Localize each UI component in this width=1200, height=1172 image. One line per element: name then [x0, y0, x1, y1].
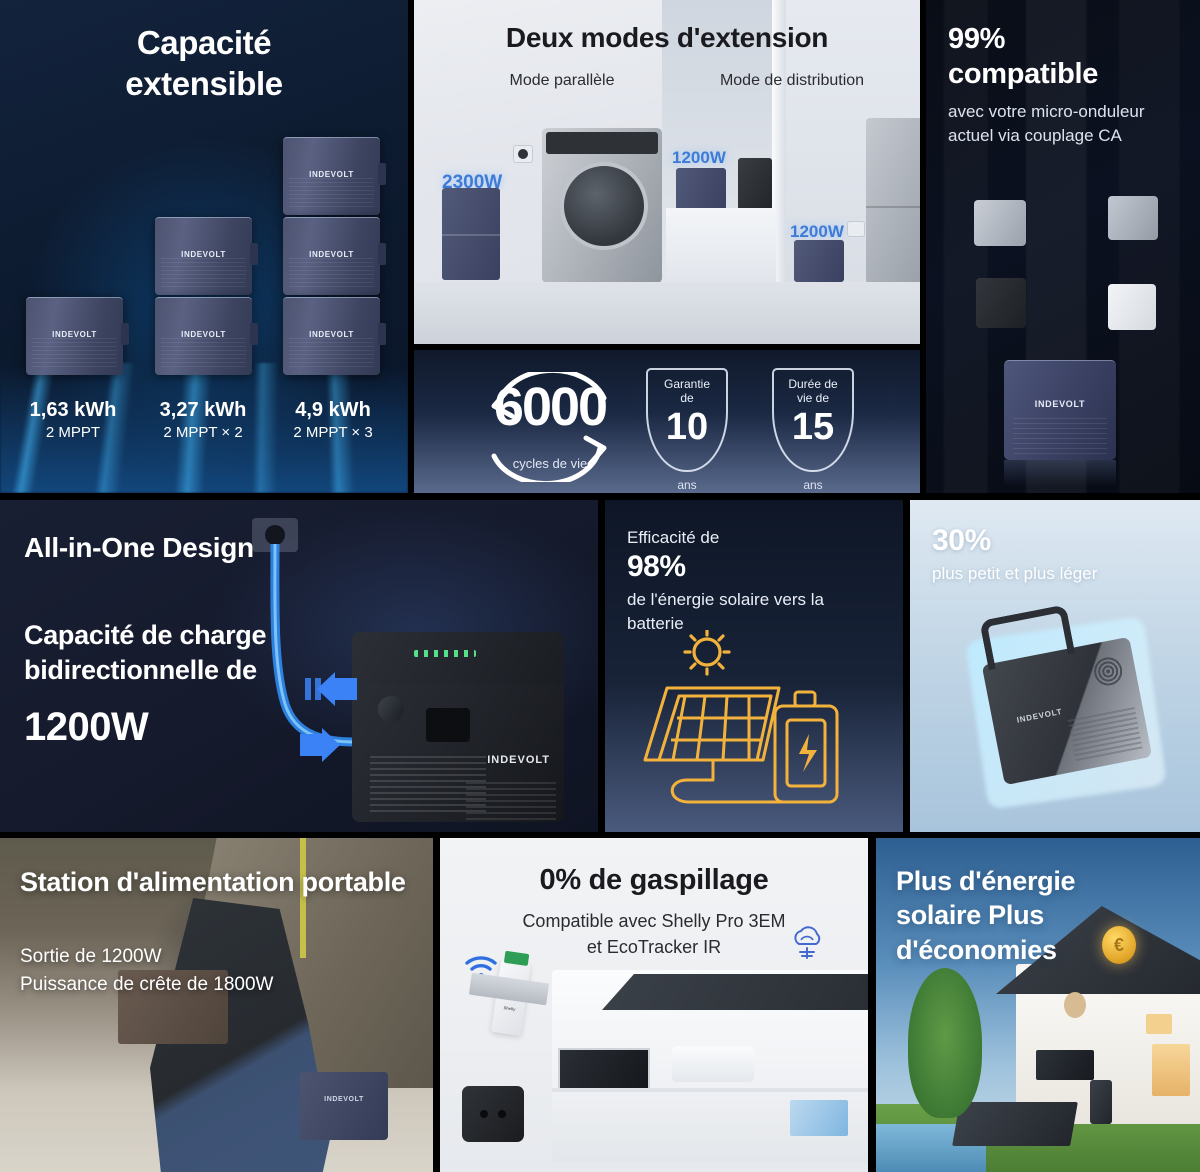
battery-unit: INDEVOLT: [155, 297, 252, 375]
black-wall-socket: [462, 1086, 524, 1142]
capacity-value: 4,9 kWh: [268, 399, 398, 422]
socket-plug: [518, 149, 528, 159]
battery-stack-1: INDEVOLT: [26, 297, 123, 375]
capacity-mppt: 2 MPPT × 3: [268, 424, 398, 441]
capacity-value: 1,63 kWh: [8, 399, 138, 422]
cloud-wifi-icon: [790, 924, 824, 960]
efficiency-line1: Efficacité de: [627, 528, 719, 548]
solar-battery-illustration: [627, 630, 887, 820]
smaller-caption: plus petit et plus léger: [932, 564, 1097, 584]
warranty-label: Garantie de: [664, 378, 710, 406]
panel-30-percent-smaller: 30% plus petit et plus léger INDEVOLT: [910, 500, 1200, 832]
house-floor-divider: [552, 1088, 868, 1092]
capacity-title: Capacité extensible: [0, 22, 408, 105]
balcony-solar-panels: [1036, 1050, 1094, 1080]
ground-solar-panels: [952, 1102, 1078, 1146]
station-fan-grille: [1091, 655, 1126, 688]
socket-hole-right: [498, 1110, 506, 1118]
arrow-right-icon: [300, 728, 352, 762]
unit-brand-label: INDEVOLT: [26, 330, 123, 339]
panel-deux-modes-extension: Deux modes d'extension Mode parallèle Mo…: [414, 0, 920, 344]
unit-brand-label: INDEVOLT: [155, 330, 252, 339]
portable-station-image: INDEVOLT: [300, 1072, 388, 1140]
window-glow-left: [1152, 1044, 1190, 1096]
unit-brand-label: INDEVOLT: [283, 170, 380, 179]
waste-sub-line2: et EcoTracker IR: [587, 937, 721, 957]
solar-panel-array: [558, 1048, 650, 1090]
carry-handle: [979, 604, 1075, 670]
capacity-label-2: 3,27 kWh 2 MPPT × 2: [138, 399, 268, 441]
washing-machine-image: [542, 128, 662, 283]
panel-station-portable: INDEVOLT Station d'alimentation portable…: [0, 838, 433, 1172]
warranty-unit: ans: [646, 478, 728, 492]
battery-unit: INDEVOLT: [155, 217, 252, 295]
waste-title: 0% de gaspillage: [440, 864, 868, 897]
lifetime-years: 15: [792, 408, 834, 446]
modes-title: Deux modes d'extension: [414, 22, 920, 54]
unit-brand-label: INDEVOLT: [283, 250, 380, 259]
home-battery: [1090, 1080, 1112, 1124]
device-brand-label: Shelly: [494, 1004, 524, 1013]
station-brand-label: INDEVOLT: [1016, 707, 1063, 725]
device-terminal-block: [504, 951, 529, 966]
modes-subtitle-distribution: Mode de distribution: [692, 72, 892, 90]
lifetime-shield-icon: Durée de vie de 15: [772, 368, 854, 472]
station-vents: [1068, 707, 1143, 761]
battery-distribution-1: [676, 168, 726, 210]
battery-pair-parallel: [442, 188, 500, 280]
compatible-title: 99% compatible: [948, 22, 1182, 93]
battery-unit: INDEVOLT: [283, 297, 380, 375]
refrigerator-image: [866, 118, 920, 284]
capacity-mppt: 2 MPPT: [8, 424, 138, 441]
wattage-distribution-1: 1200W: [672, 148, 726, 168]
capacity-title-line1: Capacité: [137, 24, 271, 61]
hero-reflection: [1004, 460, 1116, 486]
portable-peak: Puissance de crête de 1800W: [20, 974, 274, 996]
roof-window: [1064, 992, 1086, 1018]
panel-0-gaspillage: 0% de gaspillage Compatible avec Shelly …: [440, 838, 868, 1172]
hero-fins: [1013, 418, 1107, 454]
smaller-percent: 30%: [932, 524, 991, 558]
capacity-value: 3,27 kWh: [138, 399, 268, 422]
allinone-power: 1200W: [24, 705, 148, 750]
capacity-label-3: 4,9 kWh 2 MPPT × 3: [268, 399, 398, 441]
panel-capacite-extensible: Capacité extensible INDEVOLT INDEVOLT IN…: [0, 0, 408, 493]
station-top-lid: [352, 632, 564, 684]
panel-efficacite-98: Efficacité de 98% de l'énergie solaire v…: [605, 500, 903, 832]
washer-control-panel: [546, 132, 658, 154]
unit-side-connector: [378, 163, 386, 185]
coffee-machine-image: [738, 158, 772, 210]
capacity-title-line2: extensible: [125, 65, 282, 102]
recycle-arrows-icon: [464, 372, 634, 482]
tree-left: [908, 968, 982, 1118]
power-station-image: INDEVOLT: [352, 632, 564, 822]
unit-side-connector: [121, 323, 129, 345]
socket-hole-left: [480, 1110, 488, 1118]
panel-durability-badges: 6000 cycles de vie Garantie de 10 ans Du…: [414, 350, 920, 493]
battery-unit: INDEVOLT: [283, 217, 380, 295]
station-brand-label: INDEVOLT: [487, 754, 550, 766]
unit-side-connector: [378, 323, 386, 345]
waste-sub-line1: Compatible avec Shelly Pro 3EM: [522, 911, 785, 931]
tv-screen: [790, 1100, 848, 1136]
unit-side-connector: [250, 323, 258, 345]
portable-title: Station d'alimentation portable: [20, 866, 410, 900]
battery-stack-2: INDEVOLT INDEVOLT: [155, 217, 252, 375]
warranty-years: 10: [666, 408, 708, 446]
solar-panel-icon: [645, 688, 795, 802]
kitchen-counter: [666, 208, 776, 282]
microinverter-white: [1108, 284, 1156, 330]
compatible-percent: 99%: [948, 23, 1005, 55]
lifetime-unit: ans: [772, 478, 854, 492]
wattage-distribution-2: 1200W: [790, 222, 844, 242]
wall-socket-parallel: [514, 146, 532, 162]
portable-output: Sortie de 1200W: [20, 946, 162, 968]
warranty-shield-icon: Garantie de 10: [646, 368, 728, 472]
modes-subtitle-parallel: Mode parallèle: [462, 72, 662, 90]
battery-stack-3: INDEVOLT INDEVOLT INDEVOLT: [283, 137, 380, 375]
floor-line: [414, 282, 920, 344]
ac-outlet: [426, 708, 470, 742]
battery-bolt-icon: [775, 692, 837, 802]
panel-plus-energie-solaire: € Plus d'énergie solaire Plus d'économie…: [876, 838, 1200, 1172]
product-feature-collage: Capacité extensible INDEVOLT INDEVOLT IN…: [0, 0, 1200, 1172]
battery-seam: [442, 234, 500, 236]
unit-brand-label: INDEVOLT: [155, 250, 252, 259]
sun-icon: [685, 630, 729, 674]
unit-side-connector: [378, 243, 386, 265]
efficiency-line3: de l'énergie solaire vers la batterie: [627, 588, 877, 636]
unit-side-connector: [250, 243, 258, 265]
rotary-port: [378, 696, 404, 722]
station-brand-label: INDEVOLT: [300, 1096, 388, 1103]
socket-plug: [265, 525, 285, 545]
washer-door: [560, 162, 648, 250]
microinverter-silver-1: [974, 200, 1026, 246]
battery-distribution-2: [794, 240, 844, 282]
compatible-body: avec votre micro-onduleur actuel via cou…: [948, 100, 1186, 148]
station-side-fins: [466, 782, 556, 822]
microinverter-black: [976, 278, 1026, 328]
led-indicator-bar: [414, 650, 476, 657]
indevolt-battery-hero: INDEVOLT: [1004, 360, 1116, 460]
house-roof: [602, 974, 868, 1010]
wall-socket-distribution: [848, 222, 864, 236]
microinverter-silver-2: [1108, 196, 1158, 240]
capacity-label-1: 1,63 kWh 2 MPPT: [8, 399, 138, 441]
savings-title: Plus d'énergie solaire Plus d'économies: [896, 864, 1136, 967]
panel-all-in-one-design: All-in-One Design Capacité de charge bid…: [0, 500, 598, 832]
hero-brand-label: INDEVOLT: [1004, 399, 1116, 409]
capacity-mppt: 2 MPPT × 2: [138, 424, 268, 441]
bed-shape: [672, 1046, 754, 1082]
efficiency-percent: 98%: [627, 550, 686, 584]
lifetime-label: Durée de vie de: [788, 378, 837, 406]
panel-99-compatible: 99% compatible avec votre micro-onduleur…: [926, 0, 1200, 493]
window-glow-upper: [1146, 1014, 1172, 1034]
unit-brand-label: INDEVOLT: [283, 330, 380, 339]
arrow-left-icon: [305, 672, 357, 706]
battery-unit: INDEVOLT: [26, 297, 123, 375]
battery-unit: INDEVOLT: [283, 137, 380, 215]
compatible-word: compatible: [948, 58, 1098, 90]
fridge-door-seam: [866, 206, 920, 208]
